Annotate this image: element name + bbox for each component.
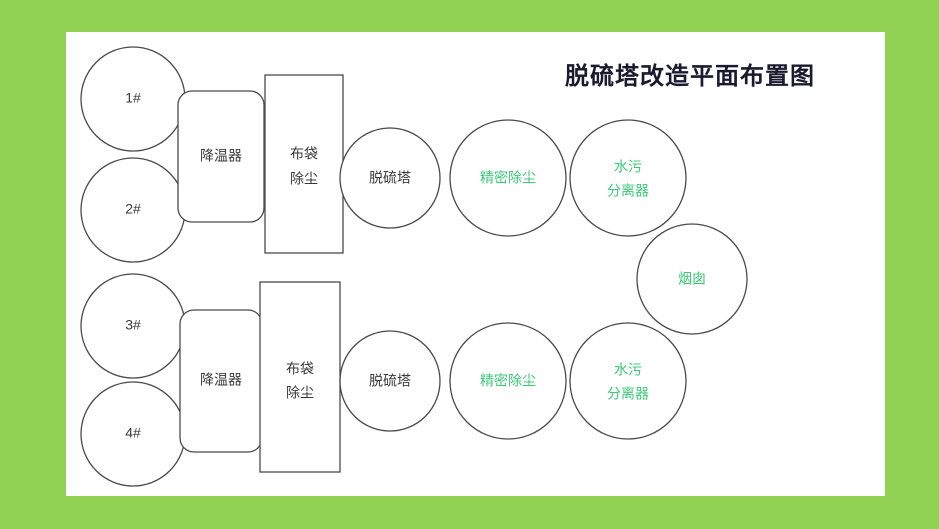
node-boiler-3[interactable]: 3#: [81, 274, 185, 378]
node-tower-top[interactable]: 脱硫塔: [340, 128, 440, 228]
row-shared: 烟囱: [637, 224, 747, 334]
baghouse-bottom-label-line2: 除尘: [286, 385, 314, 401]
separator-bottom-label-line2: 分离器: [607, 386, 649, 402]
cooler-top-label: 降温器: [200, 148, 242, 164]
baghouse-bottom-label-line1: 布袋: [286, 361, 314, 377]
node-tower-bottom[interactable]: 脱硫塔: [340, 331, 440, 431]
node-baghouse-bottom[interactable]: 布袋 除尘: [260, 282, 340, 472]
baghouse-top-box[interactable]: [265, 75, 343, 253]
node-boiler-1[interactable]: 1#: [81, 47, 185, 151]
precision-top-label: 精密除尘: [480, 170, 536, 186]
boiler-1-label: 1#: [125, 90, 141, 106]
boiler-2-label: 2#: [125, 201, 141, 217]
separator-bottom-label-line1: 水污: [614, 362, 642, 378]
node-cooler-top[interactable]: 降温器: [178, 91, 264, 222]
chimney-label: 烟囱: [678, 271, 706, 287]
node-boiler-2[interactable]: 2#: [81, 158, 185, 262]
node-baghouse-top[interactable]: 布袋 除尘: [265, 75, 343, 253]
separator-bottom-circle[interactable]: [570, 323, 686, 439]
node-precision-top[interactable]: 精密除尘: [450, 120, 566, 236]
node-chimney[interactable]: 烟囱: [637, 224, 747, 334]
page-title: 脱硫塔改造平面布置图: [520, 56, 860, 91]
precision-bottom-label: 精密除尘: [480, 373, 536, 389]
boiler-4-label: 4#: [125, 425, 141, 441]
node-separator-bottom[interactable]: 水污 分离器: [570, 323, 686, 439]
node-cooler-bottom[interactable]: 降温器: [180, 310, 262, 452]
cooler-bottom-label: 降温器: [200, 372, 242, 388]
node-separator-top[interactable]: 水污 分离器: [570, 120, 686, 236]
tower-top-label: 脱硫塔: [369, 170, 411, 186]
separator-top-label-line1: 水污: [614, 159, 642, 175]
tower-bottom-label: 脱硫塔: [369, 373, 411, 389]
separator-top-label-line2: 分离器: [607, 183, 649, 199]
boiler-3-label: 3#: [125, 317, 141, 333]
baghouse-top-label-line2: 除尘: [290, 171, 318, 187]
row-bottom: 3# 4# 降温器 布袋 除尘 脱硫塔 精密除尘: [81, 274, 686, 486]
slide-frame: 1# 2# 降温器 布袋 除尘 脱硫塔 精密除尘: [0, 0, 939, 529]
node-boiler-4[interactable]: 4#: [81, 382, 185, 486]
node-precision-bottom[interactable]: 精密除尘: [450, 323, 566, 439]
separator-top-circle[interactable]: [570, 120, 686, 236]
baghouse-top-label-line1: 布袋: [290, 146, 318, 162]
baghouse-bottom-box[interactable]: [260, 282, 340, 472]
